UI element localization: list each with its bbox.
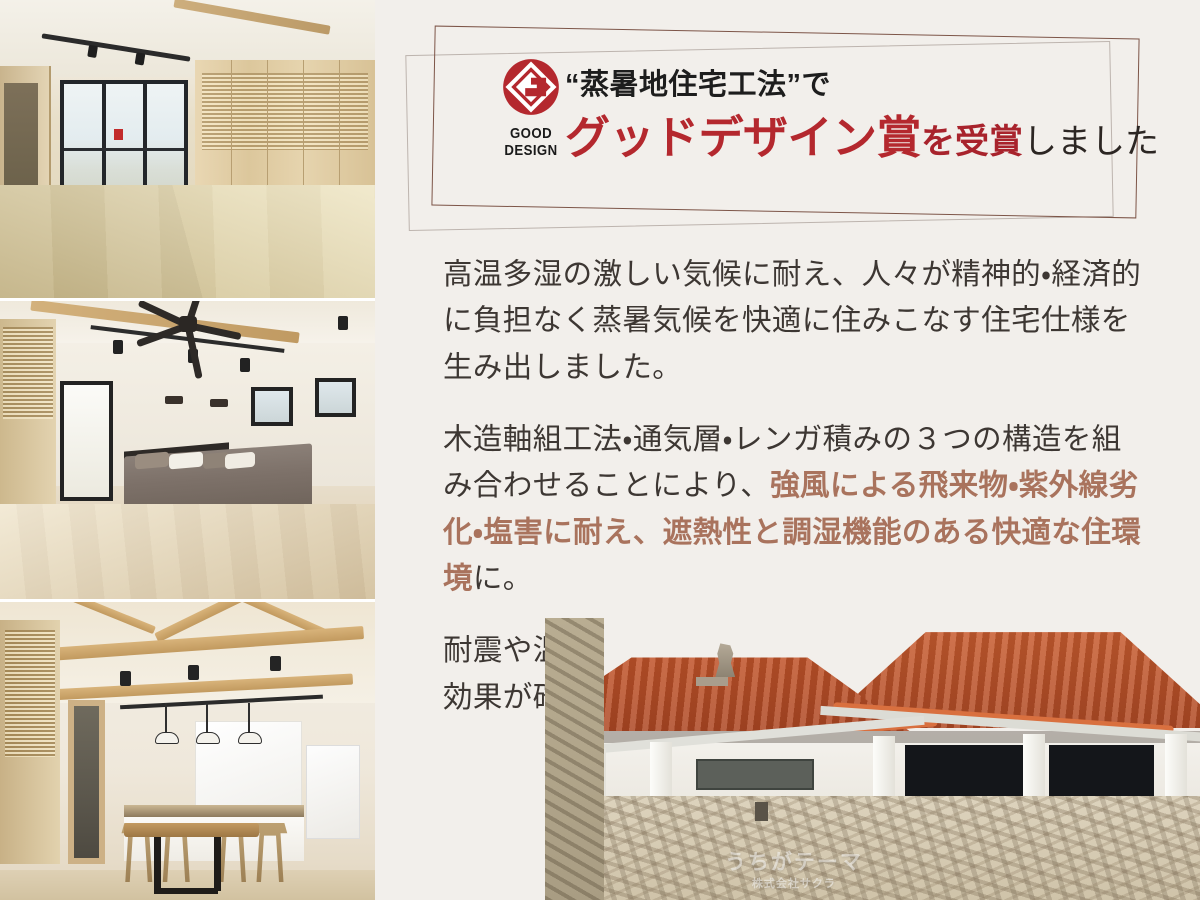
good-design-logo: GOOD DESIGN [489, 58, 573, 160]
logo-word-design: DESIGN [494, 143, 568, 160]
paragraph-2: 木造軸組工法・通気層・レンガ積みの３つの構造を組み合わせることにより、強風による… [443, 417, 1143, 602]
photo-dining-kitchen [0, 602, 375, 900]
louver-slats [202, 73, 368, 150]
good-design-mark-icon [502, 58, 560, 116]
good-design-wordmark: GOOD DESIGN [494, 126, 568, 160]
photo-strip [0, 0, 375, 900]
paragraph-2-post: に。 [473, 562, 533, 595]
wall-mailbox [755, 802, 768, 821]
stone-pillar [545, 618, 604, 900]
photo-bedroom [0, 301, 375, 599]
award-title: “蒸暑地住宅工法”で グッドデザイン賞を受賞しました [565, 68, 1165, 164]
logo-word-good: GOOD [494, 126, 568, 143]
exterior-door [60, 381, 113, 500]
dining-table [124, 823, 259, 838]
window [315, 378, 356, 417]
photo-okinawan-house: うちがテーマ 株式会社サクラ [545, 618, 1200, 900]
refrigerator [306, 745, 361, 839]
louver-closet [0, 319, 56, 528]
pendant-light [165, 703, 167, 736]
paragraph-1: 高温多湿の激しい気候に耐え、人々が精神的・経済的に負担なく蒸暑気候を快適に住みこ… [443, 252, 1143, 391]
award-headline: グッドデザイン賞を受賞しました [565, 112, 1165, 164]
watermark-line1: うちがテーマ [725, 851, 863, 874]
award-method-name: “蒸暑地住宅工法”で [565, 68, 1165, 103]
doorway [68, 700, 106, 864]
award-tail: しました [1023, 123, 1159, 161]
award-received: を受賞 [921, 123, 1023, 161]
watermark: うちがテーマ 株式会社サクラ [637, 850, 951, 892]
pendant-light [206, 703, 208, 736]
window [696, 759, 814, 790]
slide-canvas: GOOD DESIGN “蒸暑地住宅工法”で グッドデザイン賞を受賞しました 高… [0, 0, 1200, 900]
award-name: グッドデザイン賞 [565, 112, 921, 163]
content-panel: GOOD DESIGN “蒸暑地住宅工法”で グッドデザイン賞を受賞しました 高… [375, 0, 1200, 900]
louver-closet [0, 620, 60, 864]
photo-tatami-room [0, 0, 375, 298]
counter-top [124, 805, 304, 817]
tatami-floor [0, 185, 375, 298]
shisa-base [696, 677, 728, 686]
watermark-line2: 株式会社サクラ [637, 878, 951, 892]
window [251, 387, 292, 426]
wood-floor [0, 504, 375, 599]
pendant-light [248, 703, 250, 736]
